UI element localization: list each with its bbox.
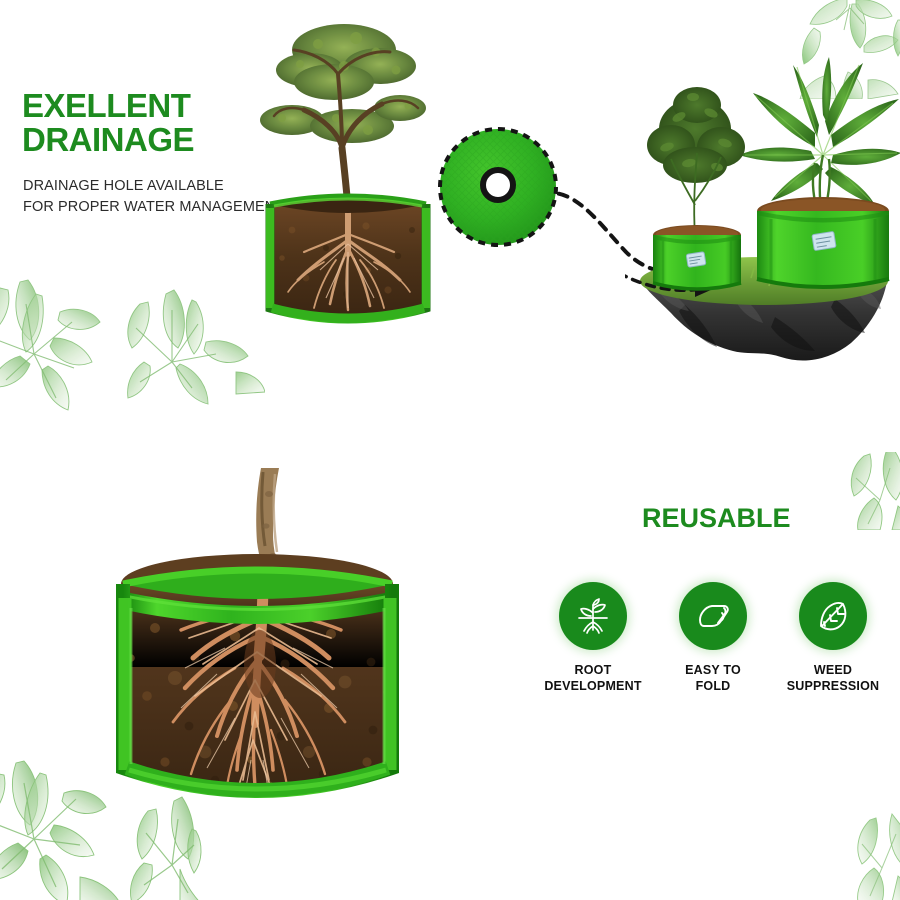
leaf-spray-mid-left-icon: [0, 276, 265, 461]
weed-suppression-circle[interactable]: [799, 582, 867, 650]
large-grow-bag: [739, 57, 900, 287]
drainage-headline: EXELLENT DRAINAGE: [22, 89, 194, 156]
feature-label: ROOT DEVELOPMENT: [544, 663, 641, 694]
large-grow-bag-root-cutaway: [85, 468, 430, 846]
leaf-icon: [813, 596, 853, 636]
leaf-spray-bottom-right-icon: [848, 812, 900, 900]
folded-fabric-icon: [693, 596, 733, 636]
bag-tag: [812, 231, 836, 250]
root-development-circle[interactable]: [559, 582, 627, 650]
small-grow-bag: [647, 87, 745, 289]
reusable-feature-row: ROOT DEVELOPMENT EASY TO FOLD: [538, 582, 888, 694]
bag-tag: [686, 252, 706, 268]
feature-label: EASY TO FOLD: [685, 663, 741, 694]
drainage-hole-closeup: [434, 123, 562, 251]
tree-in-grow-bag-cutaway: [248, 8, 448, 338]
seedling-roots-icon: [573, 596, 613, 636]
infographic-canvas: EXELLENT DRAINAGE DRAINAGE HOLE AVAILABL…: [0, 0, 900, 900]
easy-to-fold-circle[interactable]: [679, 582, 747, 650]
leaf-spray-right-mid-icon: [846, 452, 900, 530]
reusable-headline: REUSABLE: [642, 505, 791, 533]
feature-weed-suppression[interactable]: WEED SUPPRESSION: [778, 582, 888, 694]
feature-easy-to-fold[interactable]: EASY TO FOLD: [658, 582, 768, 694]
feature-label: WEED SUPPRESSION: [787, 663, 880, 694]
grow-bags-on-floating-island: [625, 55, 900, 365]
feature-root-development[interactable]: ROOT DEVELOPMENT: [538, 582, 648, 694]
